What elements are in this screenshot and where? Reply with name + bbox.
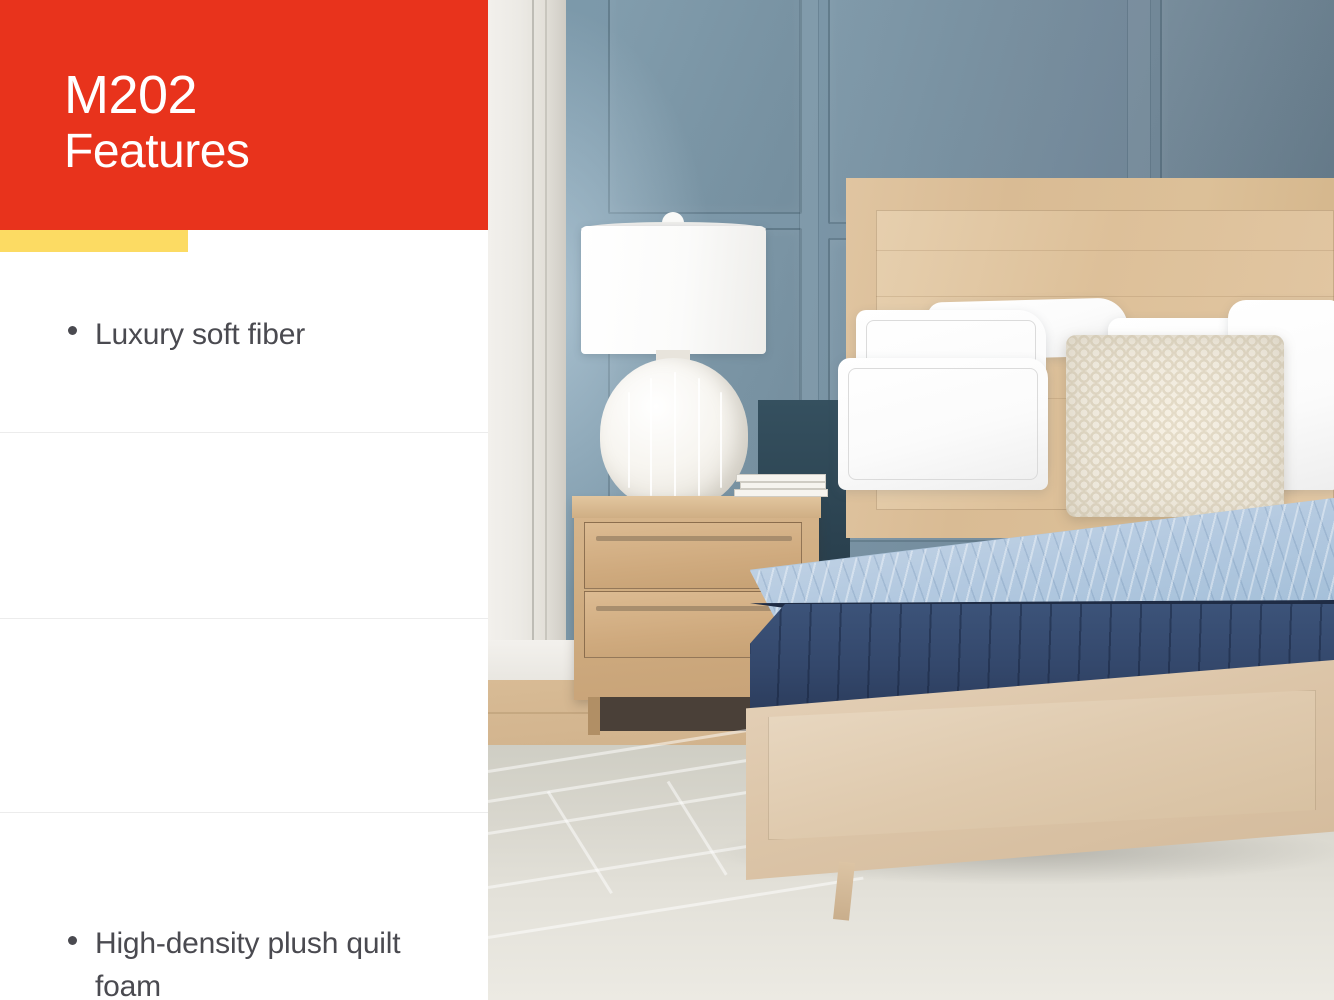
door-frame [488, 0, 566, 700]
door-frame-reveal [532, 0, 534, 700]
door-frame-reveal [545, 0, 547, 700]
pillow-seam [848, 368, 1038, 480]
feature-item: Luxury soft fiber [0, 252, 488, 432]
yellow-accent-bar [0, 230, 188, 252]
feature-label: Luxury soft fiber [95, 314, 435, 357]
left-info-panel: M202 Features Luxury soft fiber High-den… [0, 0, 488, 1000]
lamp-flute [674, 372, 676, 500]
feature-item: Adjustable base compatible [0, 619, 488, 812]
lamp-shade [581, 226, 766, 354]
wood-grain [876, 250, 1334, 251]
lamp-flute [720, 392, 722, 488]
drawer-pull [596, 536, 792, 541]
page-title: Features [64, 128, 249, 176]
product-model-title: M202 [64, 68, 197, 122]
feature-item: High-density plush quilt foam [0, 433, 488, 618]
bullet-icon [68, 326, 77, 335]
drawer-pull [596, 606, 792, 611]
book-stack-item [736, 474, 826, 482]
feature-slide: M202 Features Luxury soft fiber High-den… [0, 0, 1334, 1000]
lamp-flute [698, 378, 700, 496]
nightstand-top [572, 496, 821, 518]
wood-grain [876, 296, 1334, 297]
book-stack-item [734, 489, 828, 497]
title-block: M202 Features [0, 0, 488, 230]
book-stack-item [740, 482, 826, 489]
lamp-flute [628, 392, 630, 488]
feature-item: Ships in a box [0, 813, 488, 1000]
nightstand-leg [588, 697, 600, 735]
knit-accent-cushion [1066, 335, 1284, 517]
bedroom-photo [488, 0, 1334, 1000]
lamp-flute [650, 378, 652, 496]
